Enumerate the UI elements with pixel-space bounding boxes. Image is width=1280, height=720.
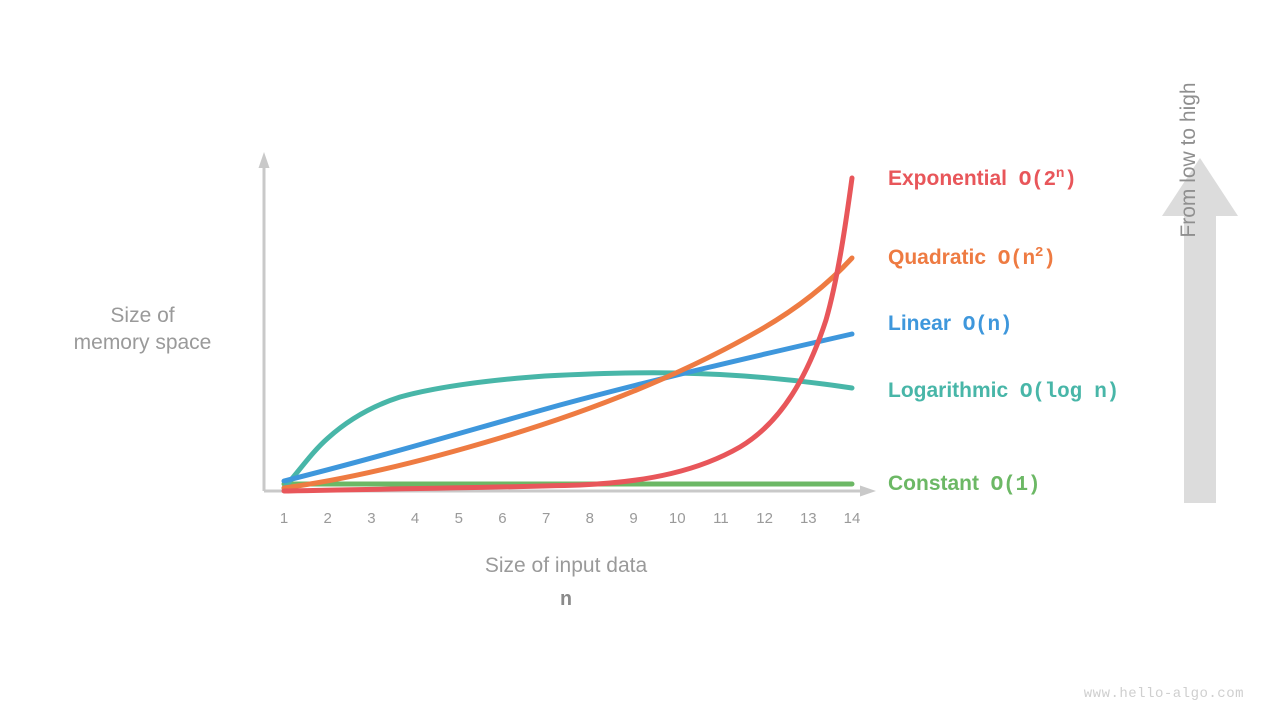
y-axis-title: Size of memory space [40, 302, 245, 356]
chart-canvas: Size of memory space Size of input data … [0, 0, 1280, 720]
legend-item-constant: Constant O(1) [888, 472, 1040, 497]
axis-lines [259, 152, 877, 497]
legend-label-logarithmic: Logarithmic [888, 379, 1008, 402]
legend-notation-tail-exponential: ) [1064, 169, 1076, 192]
x-tick-label: 12 [750, 510, 780, 527]
legend-notation-constant: O(1) [991, 474, 1041, 497]
legend-label-quadratic: Quadratic [888, 246, 986, 269]
x-tick-label: 7 [531, 510, 561, 527]
legend-notation-base-quadratic: O(n [998, 248, 1035, 271]
x-tick-label: 6 [487, 510, 517, 527]
x-tick-label: 11 [706, 510, 736, 527]
x-tick-label: 5 [444, 510, 474, 527]
legend-notation-linear: O(n) [963, 314, 1013, 337]
arrow-label: From low to high [1177, 50, 1205, 270]
legend-item-linear: Linear O(n) [888, 312, 1012, 337]
x-tick-label: 2 [313, 510, 343, 527]
legend-notation-exponential: O(2n) [1019, 169, 1077, 192]
x-tick-label: 10 [662, 510, 692, 527]
legend-item-logarithmic: Logarithmic O(log n) [888, 379, 1119, 404]
x-axis-symbol: n [441, 589, 691, 612]
legend-notation-tail-quadratic: ) [1043, 248, 1055, 271]
x-tick-label: 13 [793, 510, 823, 527]
x-tick-label: 8 [575, 510, 605, 527]
x-tick-label: 14 [837, 510, 867, 527]
legend-notation-quadratic: O(n2) [998, 248, 1056, 271]
legend-label-constant: Constant [888, 472, 979, 495]
x-tick-label: 1 [269, 510, 299, 527]
x-tick-label: 9 [619, 510, 649, 527]
legend-label-linear: Linear [888, 312, 951, 335]
x-tick-label: 4 [400, 510, 430, 527]
chart-plot-area [0, 0, 1280, 720]
legend-label-exponential: Exponential [888, 167, 1007, 190]
y-axis-arrowhead [259, 152, 270, 168]
series-line-exponential [284, 178, 852, 491]
y-axis-title-line1: Size of [40, 302, 245, 329]
x-axis-arrowhead [860, 486, 876, 497]
watermark: www.hello-algo.com [1084, 686, 1244, 702]
x-axis-title: Size of input data [441, 552, 691, 579]
legend-notation-base-exponential: O(2 [1019, 169, 1056, 192]
y-axis-title-line2: memory space [40, 329, 245, 356]
legend-notation-logarithmic: O(log n) [1020, 381, 1119, 404]
x-tick-label: 3 [356, 510, 386, 527]
legend-item-exponential: Exponential O(2n) [888, 166, 1077, 192]
legend-item-quadratic: Quadratic O(n2) [888, 245, 1056, 271]
